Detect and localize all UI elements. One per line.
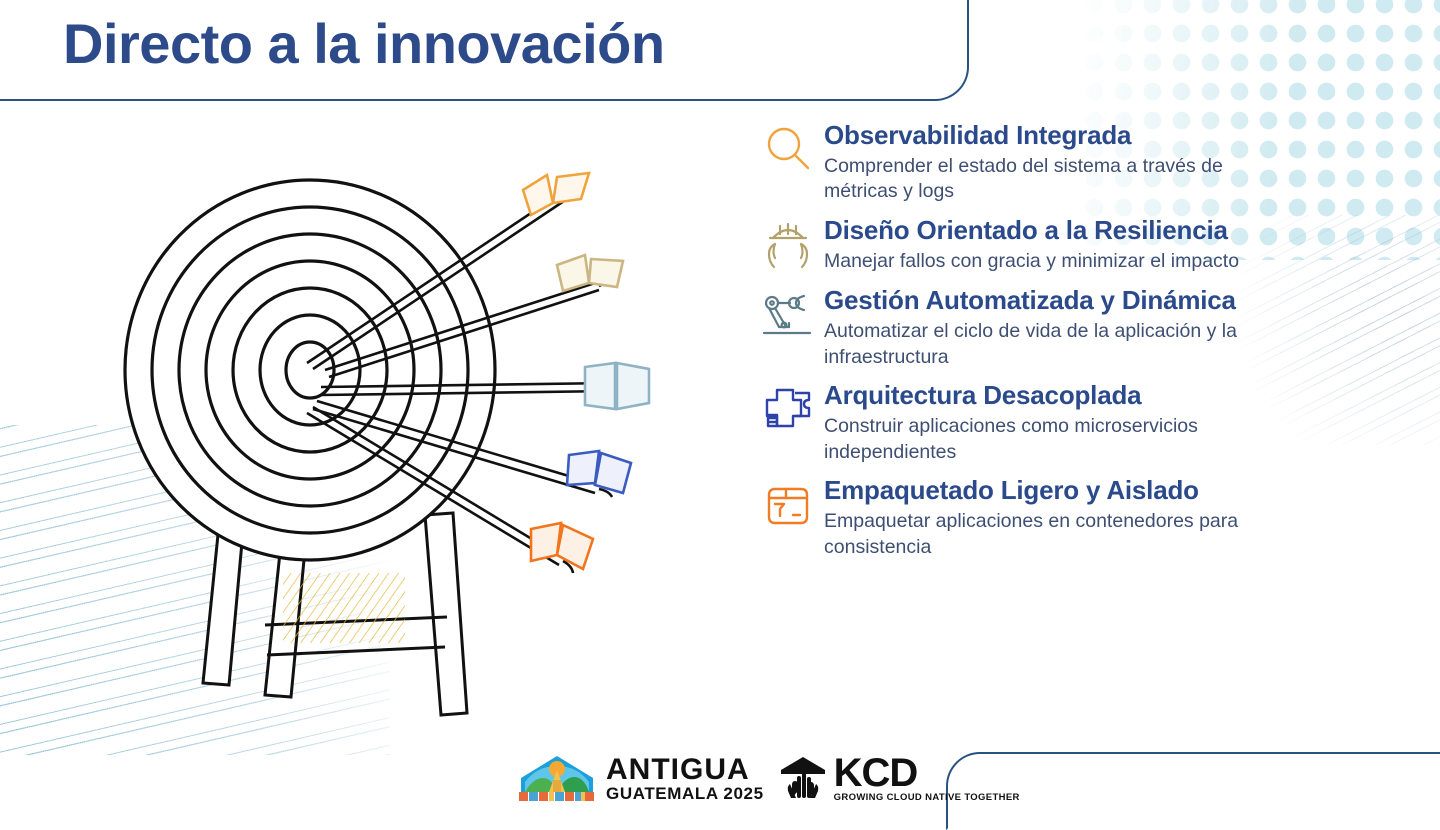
page-title: Directo a la innovación — [63, 11, 665, 76]
feature-text: Arquitectura Desacoplada Construir aplic… — [824, 378, 1254, 465]
feature-item-empaquetado: Empaquetado Ligero y Aislado Empaquetar … — [752, 473, 1352, 560]
kcd-wordmark: KCD GROWING CLOUD NATIVE TOGETHER — [834, 753, 1020, 803]
antigua-wordmark: ANTIGUA GUATEMALA 2025 — [606, 755, 764, 802]
package-box-icon — [752, 473, 824, 535]
feature-text: Empaquetado Ligero y Aislado Empaquetar … — [824, 473, 1254, 560]
target-rings — [125, 180, 495, 560]
feature-title: Gestión Automatizada y Dinámica — [824, 285, 1254, 316]
feature-title: Diseño Orientado a la Resiliencia — [824, 215, 1239, 246]
feature-text: Diseño Orientado a la Resiliencia Maneja… — [824, 213, 1239, 274]
footer-logos: ANTIGUA GUATEMALA 2025 KCD GROWING CLOUD… — [515, 748, 1020, 808]
feature-list: Observabilidad Integrada Comprender el e… — [752, 118, 1352, 569]
archery-target-illustration — [95, 155, 715, 735]
feature-text: Gestión Automatizada y Dinámica Automati… — [824, 283, 1254, 370]
title-plate: Directo a la innovación — [0, 0, 969, 101]
antigua-line1: ANTIGUA — [606, 755, 764, 785]
robot-arm-icon — [752, 283, 824, 345]
feature-item-resiliencia: Diseño Orientado a la Resiliencia Maneja… — [752, 213, 1352, 275]
feature-description: Automatizar el ciclo de vida de la aplic… — [824, 319, 1254, 370]
feature-item-observabilidad: Observabilidad Integrada Comprender el e… — [752, 118, 1352, 205]
hands-hardhat-icon — [752, 213, 824, 275]
kcd-line1: KCD — [834, 753, 1020, 793]
arrow-3-fletching — [585, 363, 649, 409]
arrow-5-fletching — [531, 523, 593, 569]
antigua-arch-icon — [515, 752, 599, 804]
feature-item-automatizacion: Gestión Automatizada y Dinámica Automati… — [752, 283, 1352, 370]
feature-item-arquitectura: Arquitectura Desacoplada Construir aplic… — [752, 378, 1352, 465]
magnifier-icon — [752, 118, 824, 180]
kcd-logo: KCD GROWING CLOUD NATIVE TOGETHER — [778, 753, 1020, 803]
arrow-1-fletching — [523, 173, 589, 215]
feature-title: Empaquetado Ligero y Aislado — [824, 475, 1254, 506]
feature-title: Arquitectura Desacoplada — [824, 380, 1254, 411]
kcd-line2: GROWING CLOUD NATIVE TOGETHER — [834, 793, 1020, 803]
antigua-line2: GUATEMALA 2025 — [606, 785, 764, 802]
feature-description: Empaquetar aplicaciones en contenedores … — [824, 509, 1254, 560]
kcd-hands-icon — [778, 754, 828, 802]
feature-text: Observabilidad Integrada Comprender el e… — [824, 118, 1254, 205]
corner-accent-plate — [946, 752, 1440, 830]
stand-hatch-panel — [283, 573, 405, 643]
feature-title: Observabilidad Integrada — [824, 120, 1254, 151]
feature-description: Comprender el estado del sistema a travé… — [824, 154, 1254, 205]
feature-description: Construir aplicaciones como microservici… — [824, 414, 1254, 465]
feature-description: Manejar fallos con gracia y minimizar el… — [824, 249, 1239, 275]
antigua-logo: ANTIGUA GUATEMALA 2025 — [515, 752, 764, 804]
modules-puzzle-icon — [752, 378, 824, 440]
